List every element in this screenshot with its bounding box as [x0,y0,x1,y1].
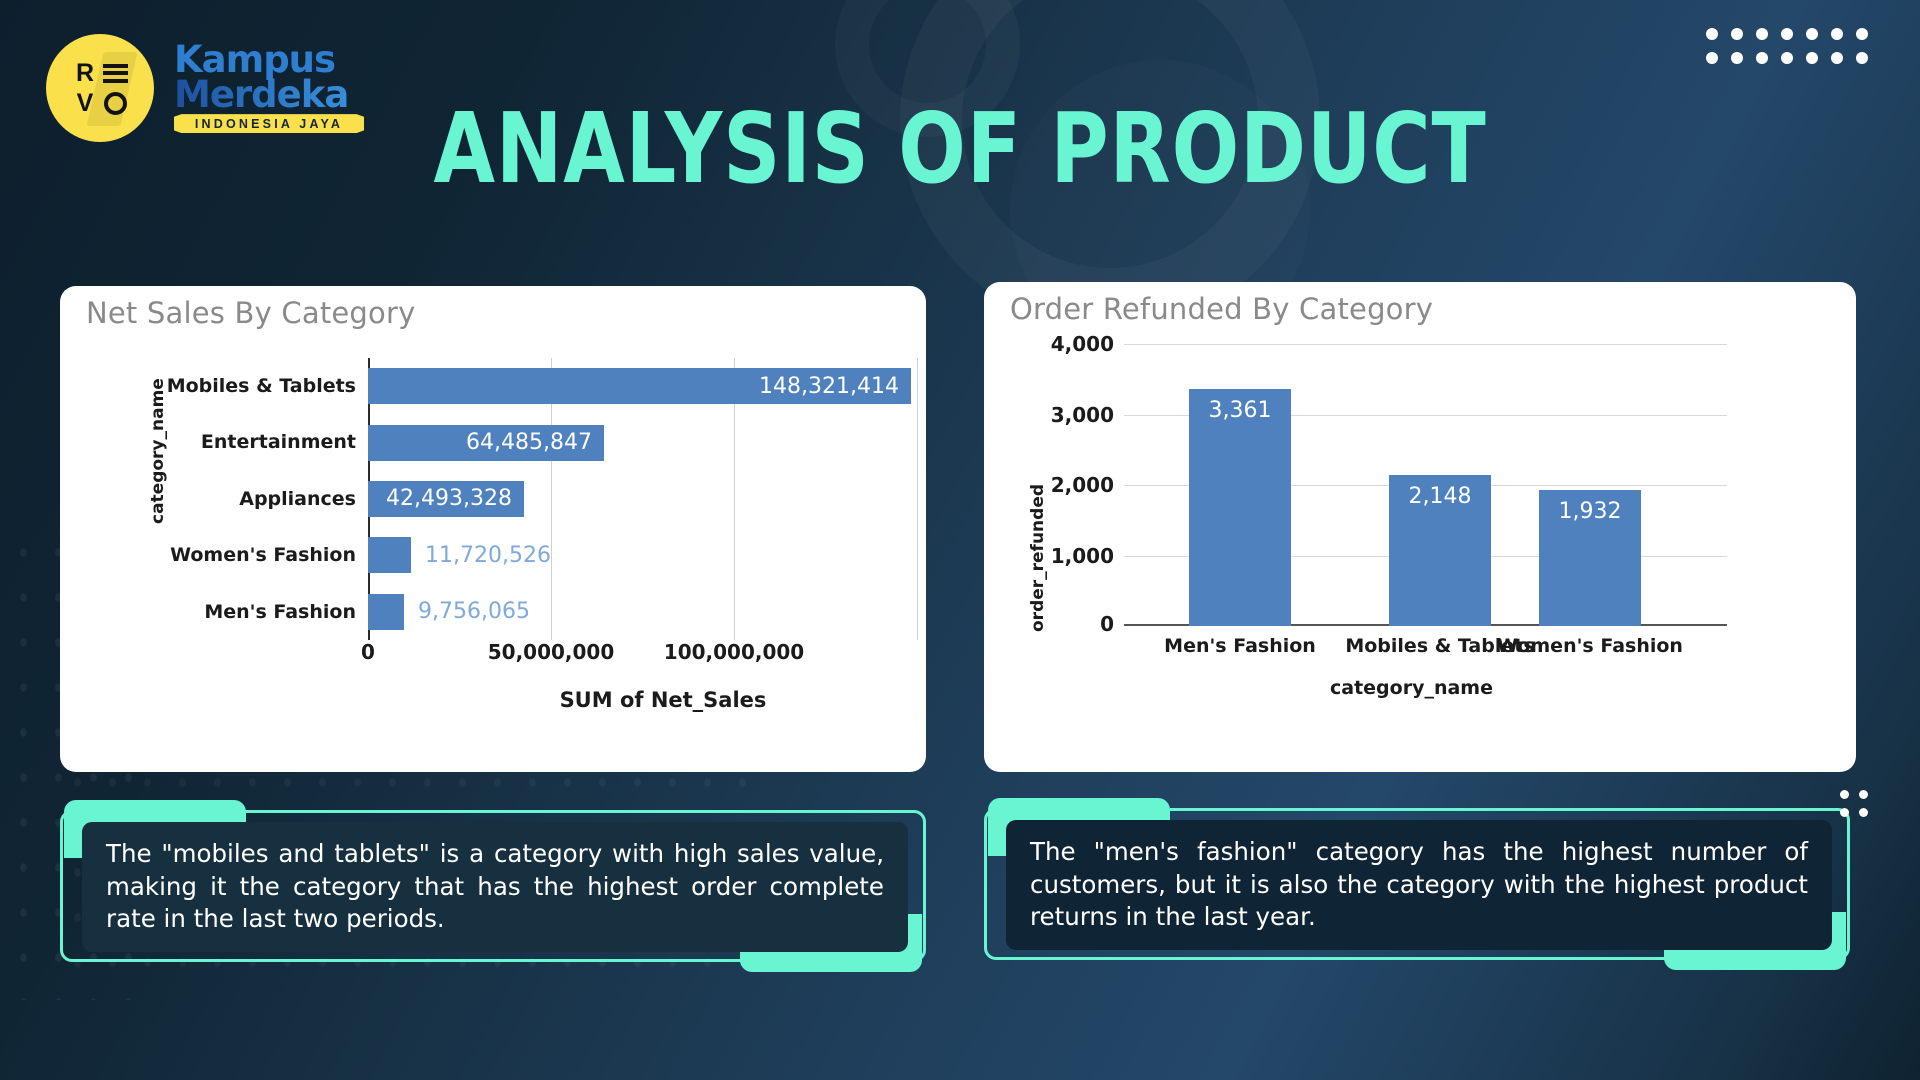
chart1-bar[interactable]: 11,720,526 [368,537,411,573]
chart2-bars: 3,361 Men's Fashion 2,148 Mobiles & Tabl… [1124,344,1699,626]
chart1-row: Women's Fashion 11,720,526 [368,527,926,583]
callout-refunds: The "men's fashion" category has the hig… [984,798,1850,970]
chart1-bar-value: 64,485,847 [466,430,604,455]
dot [1731,28,1743,40]
chart-card-order-refunded: Order Refunded By Category order_refunde… [984,282,1856,772]
chart1-bar[interactable]: 42,493,328 [368,481,524,517]
callout-body: The "mobiles and tablets" is a category … [82,822,908,952]
chart1-bar-value: 9,756,065 [418,599,530,624]
vertical-bar-chart: order_refunded 4,000 3,000 2,000 1,000 0… [984,332,1856,772]
chart2-bar[interactable]: 1,932 Women's Fashion [1539,490,1641,626]
slide-root: R V Kampus Merdeka INDONESIA JAYA ANALYS… [0,0,1920,1080]
chart1-category-label: Men's Fashion [146,600,356,624]
dot [1756,28,1768,40]
callout-text: The "men's fashion" category has the hig… [1030,836,1808,934]
callout-net-sales: The "mobiles and tablets" is a category … [60,800,926,972]
chart1-x-tick: 100,000,000 [664,640,804,664]
chart1-row: Men's Fashion 9,756,065 [368,584,926,640]
callout-text: The "mobiles and tablets" is a category … [106,838,884,936]
chart2-y-tick: 2,000 [1051,473,1114,497]
dot [1840,808,1849,817]
chart2-bar[interactable]: 3,361 Men's Fashion [1189,389,1291,626]
horizontal-bar-chart: category_name Mobiles & Tablets 148,321,… [60,344,926,772]
chart2-bar-value: 3,361 [1189,398,1291,423]
chart2-y-tick: 3,000 [1051,403,1114,427]
chart1-bar-value: 148,321,414 [759,374,911,399]
chart2-bar-value: 1,932 [1539,499,1641,524]
revo-letter-r: R [76,61,94,86]
kampus-merdeka-line1: Kampus [174,43,364,77]
dot [1706,52,1718,64]
dot [1831,28,1843,40]
dot [1856,28,1868,40]
chart1-x-ticks: 0 50,000,000 100,000,000 [368,640,926,680]
chart1-bar-value: 42,493,328 [386,486,524,511]
revo-logo-grid: R V [70,58,130,118]
dot [1856,52,1868,64]
chart2-x-tick: Women's Fashion [1497,635,1683,657]
chart2-plot-area: 4,000 3,000 2,000 1,000 0 3,361 Men's Fa… [1124,344,1699,626]
dot [1859,790,1868,799]
chart-title-net-sales: Net Sales By Category [86,296,415,330]
chart2-bar-value: 2,148 [1389,484,1491,509]
dot [1781,28,1793,40]
circle-o-icon [104,92,127,115]
chart1-plot-area: Mobiles & Tablets 148,321,414 Entertainm… [368,358,926,640]
chart1-x-tick: 50,000,000 [488,640,615,664]
chart1-bar-rows: Mobiles & Tablets 148,321,414 Entertainm… [368,358,926,640]
chart1-bar[interactable]: 9,756,065 [368,594,404,630]
chart2-bar[interactable]: 2,148 Mobiles & Tablets [1389,475,1491,626]
dot [1756,52,1768,64]
dot [1840,790,1849,799]
decor-dot-grid-topright [1706,28,1868,64]
chart1-x-tick: 0 [361,640,375,664]
chart2-x-axis-label: category_name [1124,677,1699,699]
chart1-row: Appliances 42,493,328 [368,471,926,527]
chart2-y-tick: 4,000 [1051,332,1114,356]
chart1-row: Entertainment 64,485,847 [368,414,926,470]
dot [1731,52,1743,64]
chart1-category-label: Mobiles & Tablets [146,374,356,398]
dot [1806,52,1818,64]
menu-bars-icon [103,64,128,83]
chart1-row: Mobiles & Tablets 148,321,414 [368,358,926,414]
chart1-x-axis-label: SUM of Net_Sales [368,688,926,712]
chart1-category-label: Entertainment [146,430,356,454]
dot [1781,52,1793,64]
chart1-bar[interactable]: 148,321,414 [368,368,911,404]
chart2-y-axis-label: order_refunded [1028,484,1048,632]
revo-letter-v: V [77,91,94,116]
chart2-y-tick: 0 [1100,612,1114,636]
chart1-bar[interactable]: 64,485,847 [368,425,604,461]
chart2-x-tick: Men's Fashion [1164,635,1316,657]
dot [1831,52,1843,64]
chart2-y-tick: 1,000 [1051,544,1114,568]
chart-title-order-refunded: Order Refunded By Category [1010,292,1433,326]
chart1-bar-value: 11,720,526 [425,543,551,568]
revo-logo: R V [46,34,154,142]
callout-body: The "men's fashion" category has the hig… [1006,820,1832,950]
dot [1859,808,1868,817]
chart1-category-label: Appliances [146,487,356,511]
page-title: ANALYSIS OF PRODUCT [173,100,1747,197]
chart1-category-label: Women's Fashion [146,543,356,567]
chart-card-net-sales: Net Sales By Category category_name Mobi… [60,286,926,772]
decor-mini-dots [1840,790,1868,817]
dot [1706,28,1718,40]
dot [1806,28,1818,40]
